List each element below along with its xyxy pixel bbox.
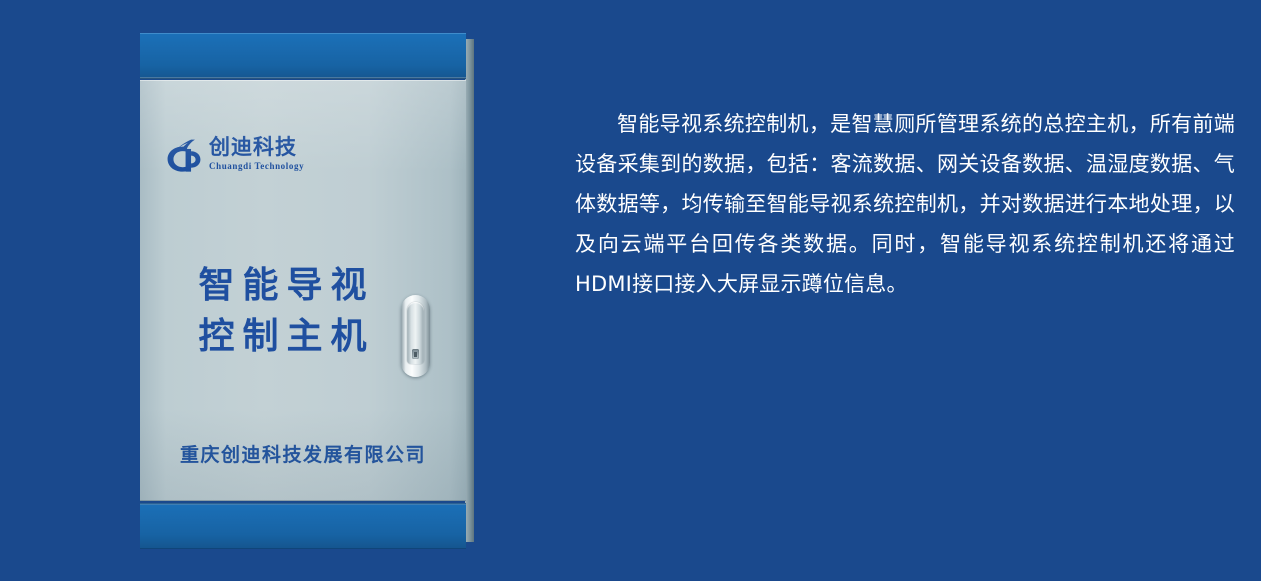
cabinet-bottom-band: [140, 503, 466, 549]
door-title-line-1: 智能导视: [140, 260, 425, 311]
brand-logo: 创迪科技 Chuangdi Technology: [165, 137, 304, 174]
product-image-area: 创迪科技 Chuangdi Technology 智能导视 控制主机: [0, 0, 540, 581]
brand-name-en: Chuangdi Technology: [209, 162, 304, 171]
control-cabinet: 创迪科技 Chuangdi Technology 智能导视 控制主机: [140, 33, 474, 548]
product-description: 智能导视系统控制机，是智慧厕所管理系统的总控主机，所有前端设备采集到的数据，包括…: [575, 104, 1235, 304]
keyhole-slot: [414, 352, 417, 357]
door-title-line-2: 控制主机: [140, 311, 425, 362]
keyhole-lock-icon: [412, 349, 419, 359]
chuangdi-cd-monogram-icon: [165, 138, 203, 174]
door-company-name: 重庆创迪科技发展有限公司: [140, 440, 466, 467]
brand-name-cn: 创迪科技: [209, 137, 304, 158]
cabinet-side-panel: [465, 39, 474, 542]
cabinet-top-band: [140, 33, 466, 79]
cabinet-door-handle-icon: [401, 295, 430, 377]
door-product-title: 智能导视 控制主机: [140, 260, 425, 362]
brand-logo-text: 创迪科技 Chuangdi Technology: [209, 137, 304, 171]
product-showcase-page: 创迪科技 Chuangdi Technology 智能导视 控制主机: [0, 0, 1261, 581]
cabinet-door: 创迪科技 Chuangdi Technology 智能导视 控制主机: [140, 80, 466, 501]
description-paragraph: 智能导视系统控制机，是智慧厕所管理系统的总控主机，所有前端设备采集到的数据，包括…: [575, 104, 1235, 304]
